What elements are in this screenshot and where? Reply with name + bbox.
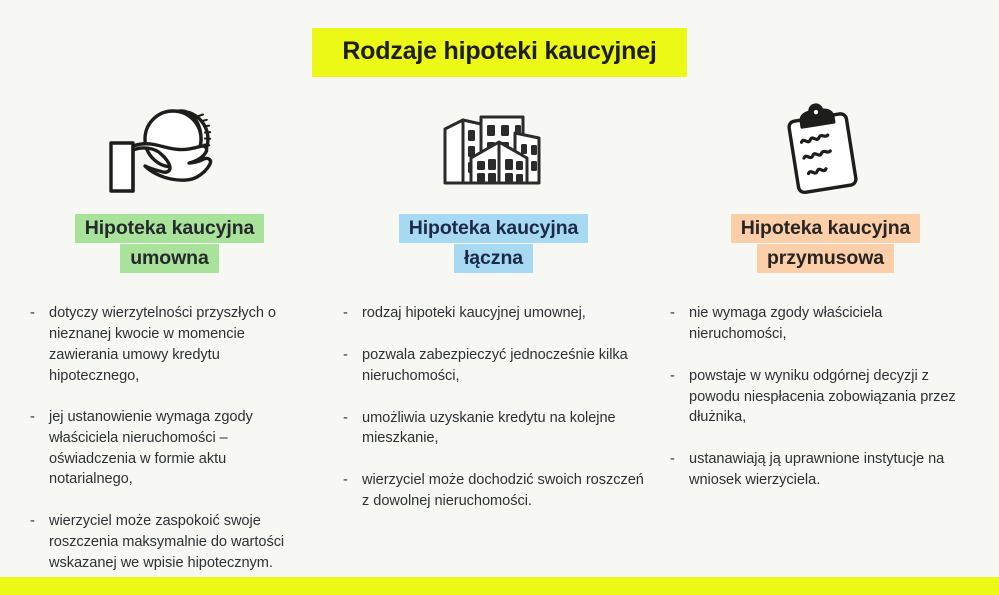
list-item-text: wierzyciel może zaspokoić swoje roszczen… [49, 513, 284, 570]
heading-line-2: umowna [120, 244, 219, 273]
list-item: -wierzyciel może dochodzić swoich roszcz… [343, 470, 644, 511]
list-item: -wierzyciel może zaspokoić swoje roszcze… [30, 511, 309, 573]
clipboard-icon [670, 96, 981, 204]
bottom-accent-bar [0, 577, 999, 595]
heading-line-2: łączna [454, 244, 533, 273]
list-item-text: ustanawiają ją uprawnione instytucje na … [689, 451, 944, 488]
bullet-marker: - [343, 345, 348, 366]
bullet-list-przymusowa: -nie wymaga zgody właściciela nieruchomo… [670, 303, 981, 490]
heading-line-1: Hipoteka kaucyjna [731, 214, 921, 243]
bullet-marker: - [30, 407, 35, 428]
list-item: -nie wymaga zgody właściciela nieruchomo… [670, 303, 981, 344]
list-item-text: rodzaj hipoteki kaucyjnej umownej, [362, 305, 586, 321]
title-banner: Rodzaje hipoteki kaucyjnej [0, 28, 999, 77]
bullet-list-laczna: -rodzaj hipoteki kaucyjnej umownej, -poz… [343, 303, 644, 511]
heading-line-2: przymusowa [757, 244, 894, 273]
list-item-text: powstaje w wyniku odgórnej decyzji z pow… [689, 368, 956, 425]
list-item: -pozwala zabezpieczyć jednocześnie kilka… [343, 345, 644, 386]
heading-line-1: Hipoteka kaucyjna [75, 214, 265, 243]
bullet-marker: - [30, 303, 35, 324]
bullet-marker: - [30, 511, 35, 532]
heading-line-1: Hipoteka kaucyjna [399, 214, 589, 243]
page-title: Rodzaje hipoteki kaucyjnej [312, 28, 686, 77]
list-item: -dotyczy wierzytelności przyszłych o nie… [30, 303, 309, 386]
list-item: -ustanawiają ją uprawnione instytucje na… [670, 449, 981, 490]
list-item: -umożliwia uzyskanie kredytu na kolejne … [343, 408, 644, 449]
buildings-icon [343, 96, 644, 204]
bullet-marker: - [670, 366, 675, 387]
list-item-text: dotyczy wierzytelności przyszłych o niez… [49, 305, 276, 383]
bullet-marker: - [343, 470, 348, 491]
bullet-marker: - [670, 449, 675, 470]
bullet-list-umowna: -dotyczy wierzytelności przyszłych o nie… [30, 303, 309, 573]
list-item: -rodzaj hipoteki kaucyjnej umownej, [343, 303, 644, 324]
card-hipoteka-przymusowa: Hipoteka kaucyjna przymusowa -nie wymaga… [666, 96, 999, 490]
bullet-marker: - [343, 303, 348, 324]
list-item: -jej ustanowienie wymaga zgody właścicie… [30, 407, 309, 490]
bullet-marker: - [343, 408, 348, 429]
heading-hipoteka-przymusowa: Hipoteka kaucyjna przymusowa [670, 213, 981, 273]
list-item-text: umożliwia uzyskanie kredytu na kolejne m… [362, 410, 616, 447]
list-item-text: wierzyciel może dochodzić swoich roszcze… [362, 472, 644, 509]
heading-hipoteka-laczna: Hipoteka kaucyjna łączna [343, 213, 644, 273]
list-item-text: jej ustanowienie wymaga zgody właściciel… [49, 409, 253, 487]
list-item: -powstaje w wyniku odgórnej decyzji z po… [670, 366, 981, 428]
list-item-text: nie wymaga zgody właściciela nieruchomoś… [689, 305, 882, 342]
list-item-text: pozwala zabezpieczyć jednocześnie kilka … [362, 347, 628, 384]
bullet-marker: - [670, 303, 675, 324]
hand-holding-coin-icon [30, 96, 309, 204]
heading-hipoteka-umowna: Hipoteka kaucyjna umowna [30, 213, 309, 273]
card-hipoteka-umowna: Hipoteka kaucyjna umowna -dotyczy wierzy… [0, 96, 333, 573]
card-hipoteka-laczna: Hipoteka kaucyjna łączna -rodzaj hipotek… [333, 96, 666, 511]
columns-container: Hipoteka kaucyjna umowna -dotyczy wierzy… [0, 96, 999, 573]
